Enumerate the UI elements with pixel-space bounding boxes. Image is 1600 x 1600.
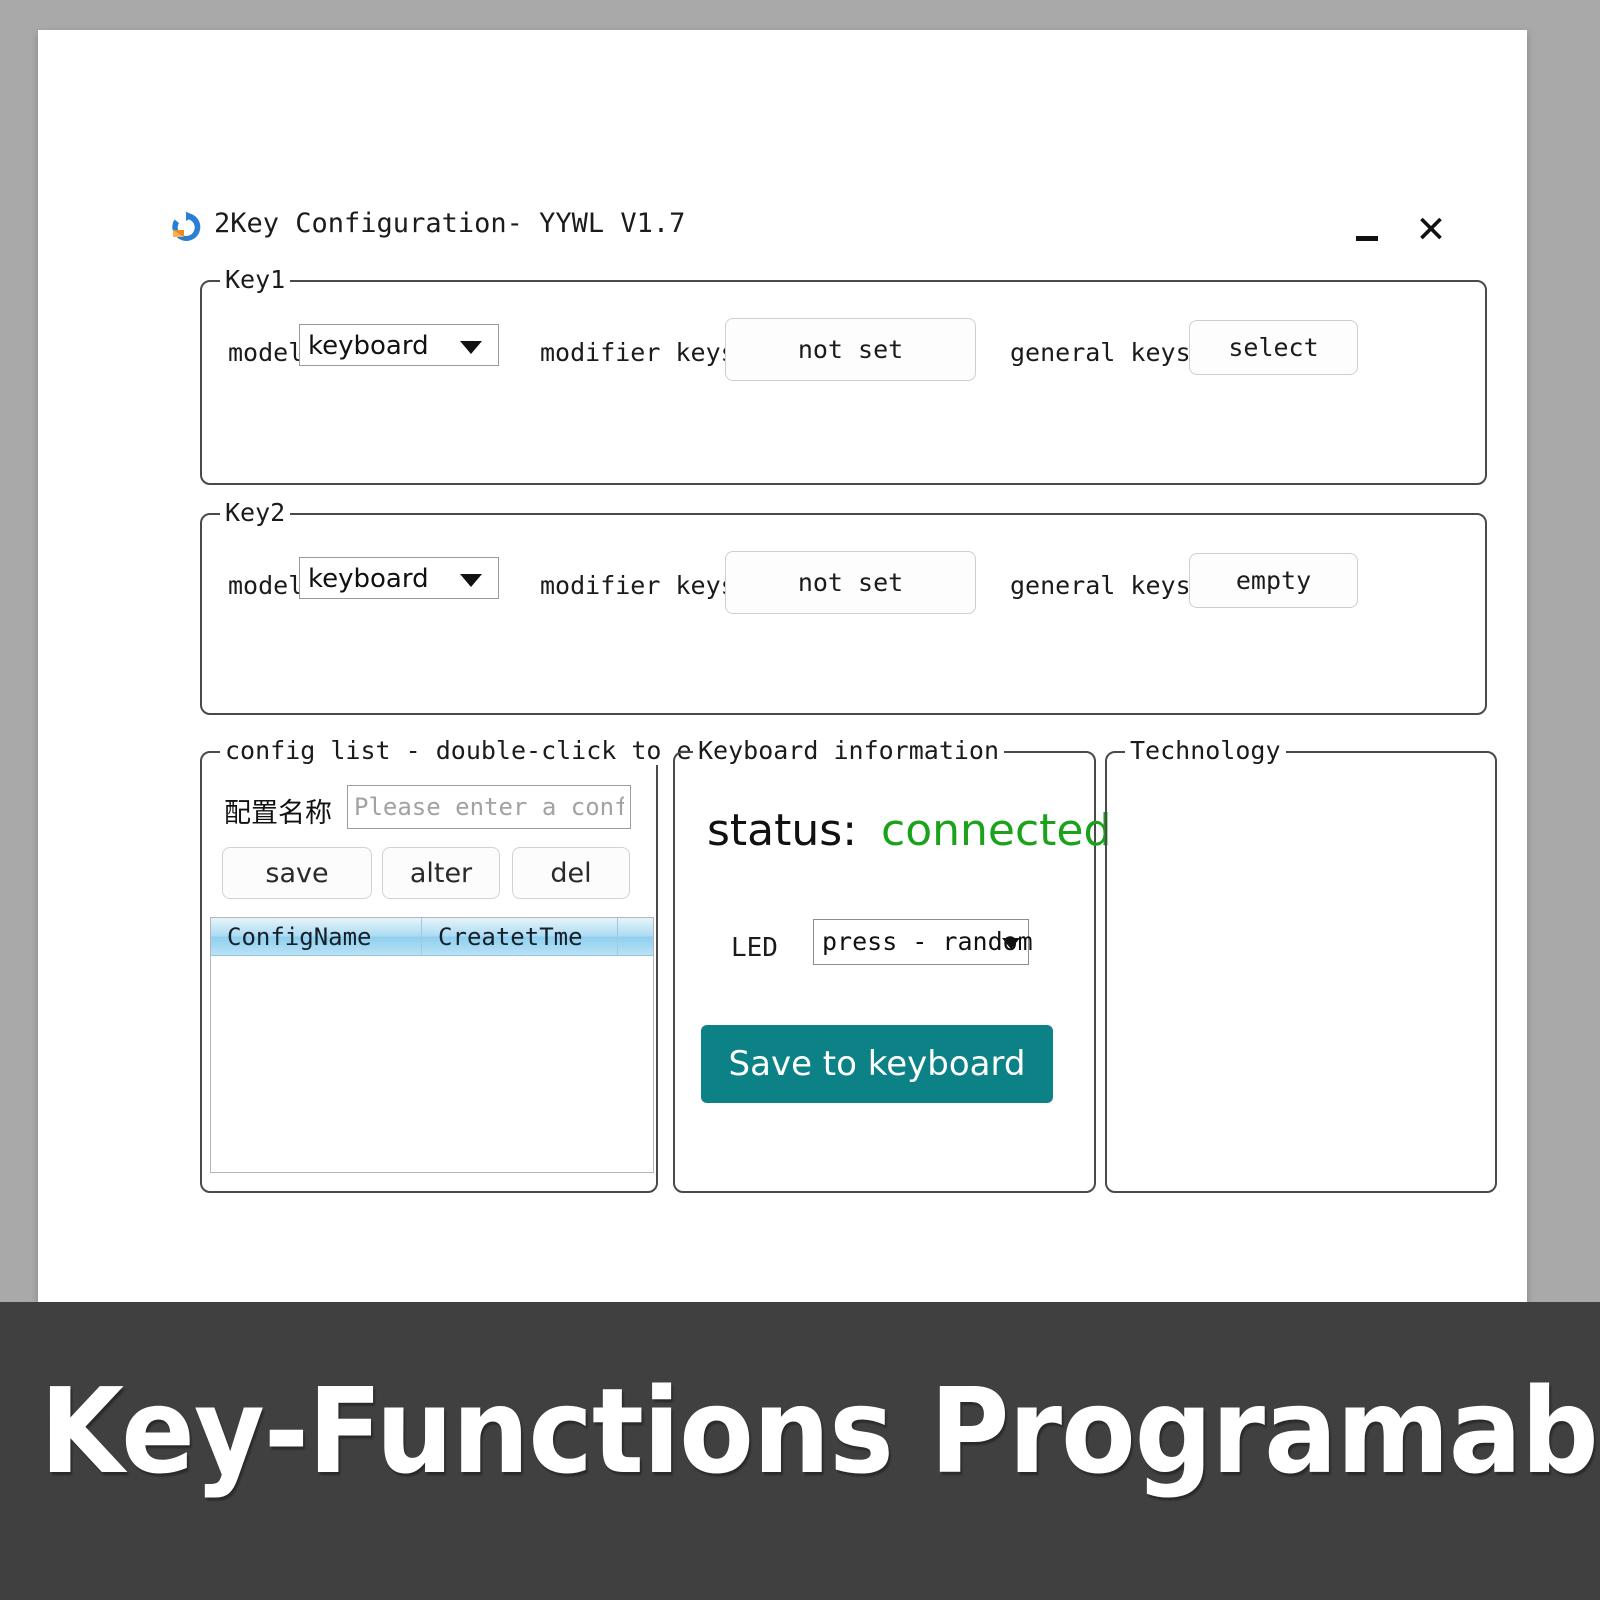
caption-text: Key-Functions Programable [40,1362,1600,1500]
technology-group-title: Technology [1125,736,1286,765]
keyboard-information-group-title: Keyboard information [693,736,1004,765]
chevron-down-icon [1002,938,1020,949]
key1-model-label: model [228,338,303,367]
chevron-down-icon [460,341,482,354]
close-icon: ✕ [1415,211,1446,248]
chevron-down-icon [460,574,482,587]
config-table-body [211,956,653,1173]
key2-group: Key2 model keyboard modifier keys not se… [200,513,1487,715]
key1-general-label: general keys [1010,338,1191,367]
key1-general-button[interactable]: select [1189,320,1358,375]
product-photo-panel: 2Key Configuration- YYWL V1.7 ✕ Key1 mod… [38,30,1527,1302]
app-window: 2Key Configuration- YYWL V1.7 ✕ Key1 mod… [120,168,1520,1228]
delete-button[interactable]: del [512,847,630,899]
key2-general-label: general keys [1010,571,1191,600]
keyboard-information-group: Keyboard information status:connected LE… [673,751,1096,1193]
key2-model-value: keyboard [308,564,429,594]
save-button[interactable]: save [222,847,372,899]
led-label: LED [731,933,778,963]
key2-model-select[interactable]: keyboard [299,557,499,599]
refresh-circle-icon [169,210,203,244]
key1-modifier-label: modifier keys [540,338,736,367]
led-mode-select[interactable]: press - random [813,919,1029,965]
config-table-header: ConfigName CreatetTme [211,918,653,956]
key2-row: model keyboard modifier keys not set gen… [202,551,1485,621]
key1-row: model keyboard modifier keys not set gen… [202,318,1485,388]
key1-modifier-button[interactable]: not set [725,318,976,381]
save-to-keyboard-button[interactable]: Save to keyboard [701,1025,1053,1103]
key2-group-title: Key2 [220,498,290,527]
key1-group-title: Key1 [220,265,290,294]
window-title: 2Key Configuration- YYWL V1.7 [214,208,685,239]
minimize-button[interactable] [1344,208,1390,254]
column-header-extra[interactable] [618,918,653,955]
column-header-config-name[interactable]: ConfigName [211,918,422,955]
config-list-group: config list - double-click to edit 配置名称 … [200,751,658,1193]
config-table[interactable]: ConfigName CreatetTme [210,917,654,1173]
key2-general-button[interactable]: empty [1189,553,1358,608]
key2-modifier-label: modifier keys [540,571,736,600]
status-label: status: [707,805,857,856]
status-line: status:connected [707,805,1111,856]
config-name-label: 配置名称 [224,791,332,830]
photo-inner-surface: 2Key Configuration- YYWL V1.7 ✕ Key1 mod… [60,48,1515,1288]
config-list-group-title: config list - double-click to edit [220,736,742,765]
key1-group: Key1 model keyboard modifier keys not se… [200,280,1487,485]
config-name-input[interactable] [347,785,631,829]
title-bar: 2Key Configuration- YYWL V1.7 ✕ [120,168,1520,230]
key2-model-label: model [228,571,303,600]
column-header-create-time[interactable]: CreatetTme [422,918,618,955]
key1-model-value: keyboard [308,331,429,361]
status-badge: connected [881,805,1111,856]
key1-model-select[interactable]: keyboard [299,324,499,366]
alter-button[interactable]: alter [382,847,500,899]
minimize-icon [1356,236,1378,241]
key2-modifier-button[interactable]: not set [725,551,976,614]
screenshot-stage: 2Key Configuration- YYWL V1.7 ✕ Key1 mod… [0,0,1600,1600]
caption-banner: Key-Functions Programable [0,1302,1600,1600]
technology-group: Technology [1105,751,1497,1193]
close-button[interactable]: ✕ [1408,206,1454,252]
